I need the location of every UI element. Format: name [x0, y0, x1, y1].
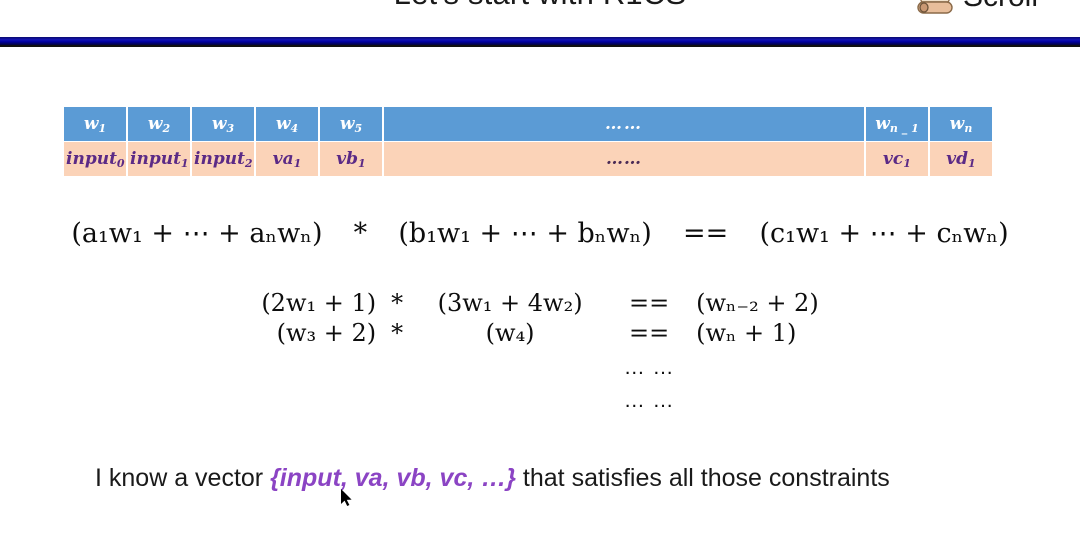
table-cell: va1: [256, 142, 318, 176]
constraint-ellipsis-row: … …: [261, 348, 818, 381]
table-row-values: input0 input1 input2 va1 vb1 …… vc1 vd1: [64, 142, 992, 176]
table-cell-ellipsis: ……: [384, 142, 864, 176]
slide-canvas: Let's start with R1CS Scroll: [0, 0, 1080, 548]
table-cell: input1: [128, 142, 190, 176]
general-operator: *: [354, 218, 368, 249]
constraint-ellipsis-row: … …: [261, 381, 818, 414]
constraint-operator: *: [384, 318, 410, 348]
constraint-row: (w₃ + 2) * (w₄) == (wₙ + 1): [261, 318, 818, 348]
table-cell: vb1: [320, 142, 382, 176]
constraint-right: (wₙ + 1): [688, 318, 819, 348]
constraint-list: (2w₁ + 1) * (3w₁ + 4w₂) == (wₙ₋₂ + 2) (w…: [0, 288, 1080, 414]
table-cell: vd1: [930, 142, 992, 176]
claim-vector: {input, va, vb, vc, …}: [270, 464, 516, 492]
constraint-left: (w₃ + 2): [261, 318, 384, 348]
table-cell: vc1: [866, 142, 928, 176]
general-left-term: (a₁w₁ + ⋯ + aₙwₙ): [71, 218, 322, 249]
table-cell: w2: [128, 107, 190, 141]
constraint-row: (2w₁ + 1) * (3w₁ + 4w₂) == (wₙ₋₂ + 2): [261, 288, 818, 318]
mouse-cursor: [341, 489, 355, 509]
table-cell: w3: [192, 107, 254, 141]
table-cell: w4: [256, 107, 318, 141]
constraint-relation: ==: [610, 288, 688, 318]
witness-table: w1 w2 w3 w4 w5 …… wn _ 1 wn input0 input…: [62, 106, 994, 177]
constraint-operator: *: [384, 288, 410, 318]
constraint-left: (2w₁ + 1): [261, 288, 384, 318]
general-relation: ==: [683, 218, 728, 249]
table-cell: input0: [64, 142, 126, 176]
general-right-term: (c₁w₁ + ⋯ + cₙwₙ): [759, 218, 1008, 249]
constraint-ellipsis: … …: [610, 381, 688, 414]
general-middle-term: (b₁w₁ + ⋯ + bₙwₙ): [398, 218, 651, 249]
scroll-label: Scroll: [963, 0, 1038, 14]
table-cell: wn _ 1: [866, 107, 928, 141]
table-cell: w1: [64, 107, 126, 141]
table-row-variables: w1 w2 w3 w4 w5 …… wn _ 1 wn: [64, 107, 992, 141]
scroll-icon: [915, 0, 957, 20]
general-constraint-equation: (a₁w₁ + ⋯ + aₙwₙ) * (b₁w₁ + ⋯ + bₙwₙ) ==…: [0, 218, 1080, 249]
claim-sentence: I know a vector {input, va, vb, vc, …} t…: [95, 464, 890, 493]
table-cell: wn: [930, 107, 992, 141]
table-cell: input2: [192, 142, 254, 176]
constraint-middle: (w₄): [410, 318, 610, 348]
claim-prefix: I know a vector: [95, 464, 270, 492]
table-cell-ellipsis: ……: [384, 107, 864, 141]
constraint-relation: ==: [610, 318, 688, 348]
header-divider: [0, 37, 1080, 45]
table-cell: w5: [320, 107, 382, 141]
claim-suffix: that satisfies all those constraints: [516, 464, 890, 492]
constraint-ellipsis: … …: [610, 348, 688, 381]
constraint-middle: (3w₁ + 4w₂): [410, 288, 610, 318]
scroll-badge: Scroll: [915, 0, 1038, 20]
constraint-right: (wₙ₋₂ + 2): [688, 288, 819, 318]
